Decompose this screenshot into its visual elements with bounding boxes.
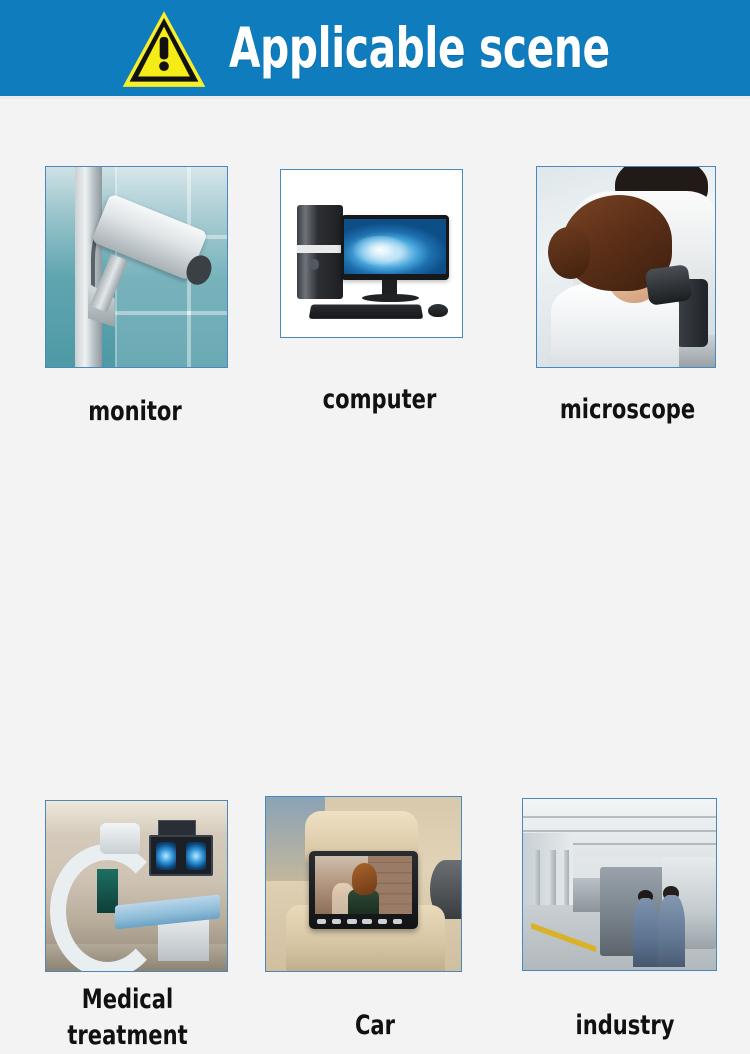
scene-thumbnail-monitor <box>45 166 228 368</box>
scene-thumbnail-car <box>265 796 462 972</box>
scene-caption-medical: Medical treatment <box>51 982 203 1054</box>
scene-thumbnail-microscope <box>536 166 716 368</box>
scene-card-industry: industry <box>500 410 750 721</box>
scene-card-medical: Medical treatment <box>0 410 250 721</box>
scene-card-computer: computer <box>250 99 500 410</box>
scene-card-car: Car <box>250 410 500 721</box>
scene-card-microscope: microscope <box>500 99 750 410</box>
warning-triangle-icon <box>121 9 207 89</box>
lab-microscope-illustration <box>537 167 715 367</box>
scene-row-top: monitor <box>0 99 750 410</box>
scene-row-bottom: Medical treatment <box>0 410 750 721</box>
scene-caption-car: Car <box>313 1008 438 1044</box>
scene-caption-industry: industry <box>551 1008 699 1044</box>
scene-thumbnail-computer <box>280 169 463 338</box>
scene-thumbnail-medical <box>45 800 228 972</box>
car-headrest-screen-illustration <box>266 797 461 971</box>
desktop-computer-illustration <box>281 170 462 337</box>
factory-floor-illustration <box>523 799 716 970</box>
page-title: Applicable scene <box>229 21 610 76</box>
applicable-scene-page: Applicable scene <box>0 0 750 750</box>
operating-room-illustration <box>46 801 227 971</box>
scene-grid: monitor <box>0 99 750 750</box>
scene-card-monitor: monitor <box>0 99 250 410</box>
cctv-camera-illustration <box>46 167 227 367</box>
page-header: Applicable scene <box>0 0 750 96</box>
scene-thumbnail-industry <box>522 798 717 971</box>
